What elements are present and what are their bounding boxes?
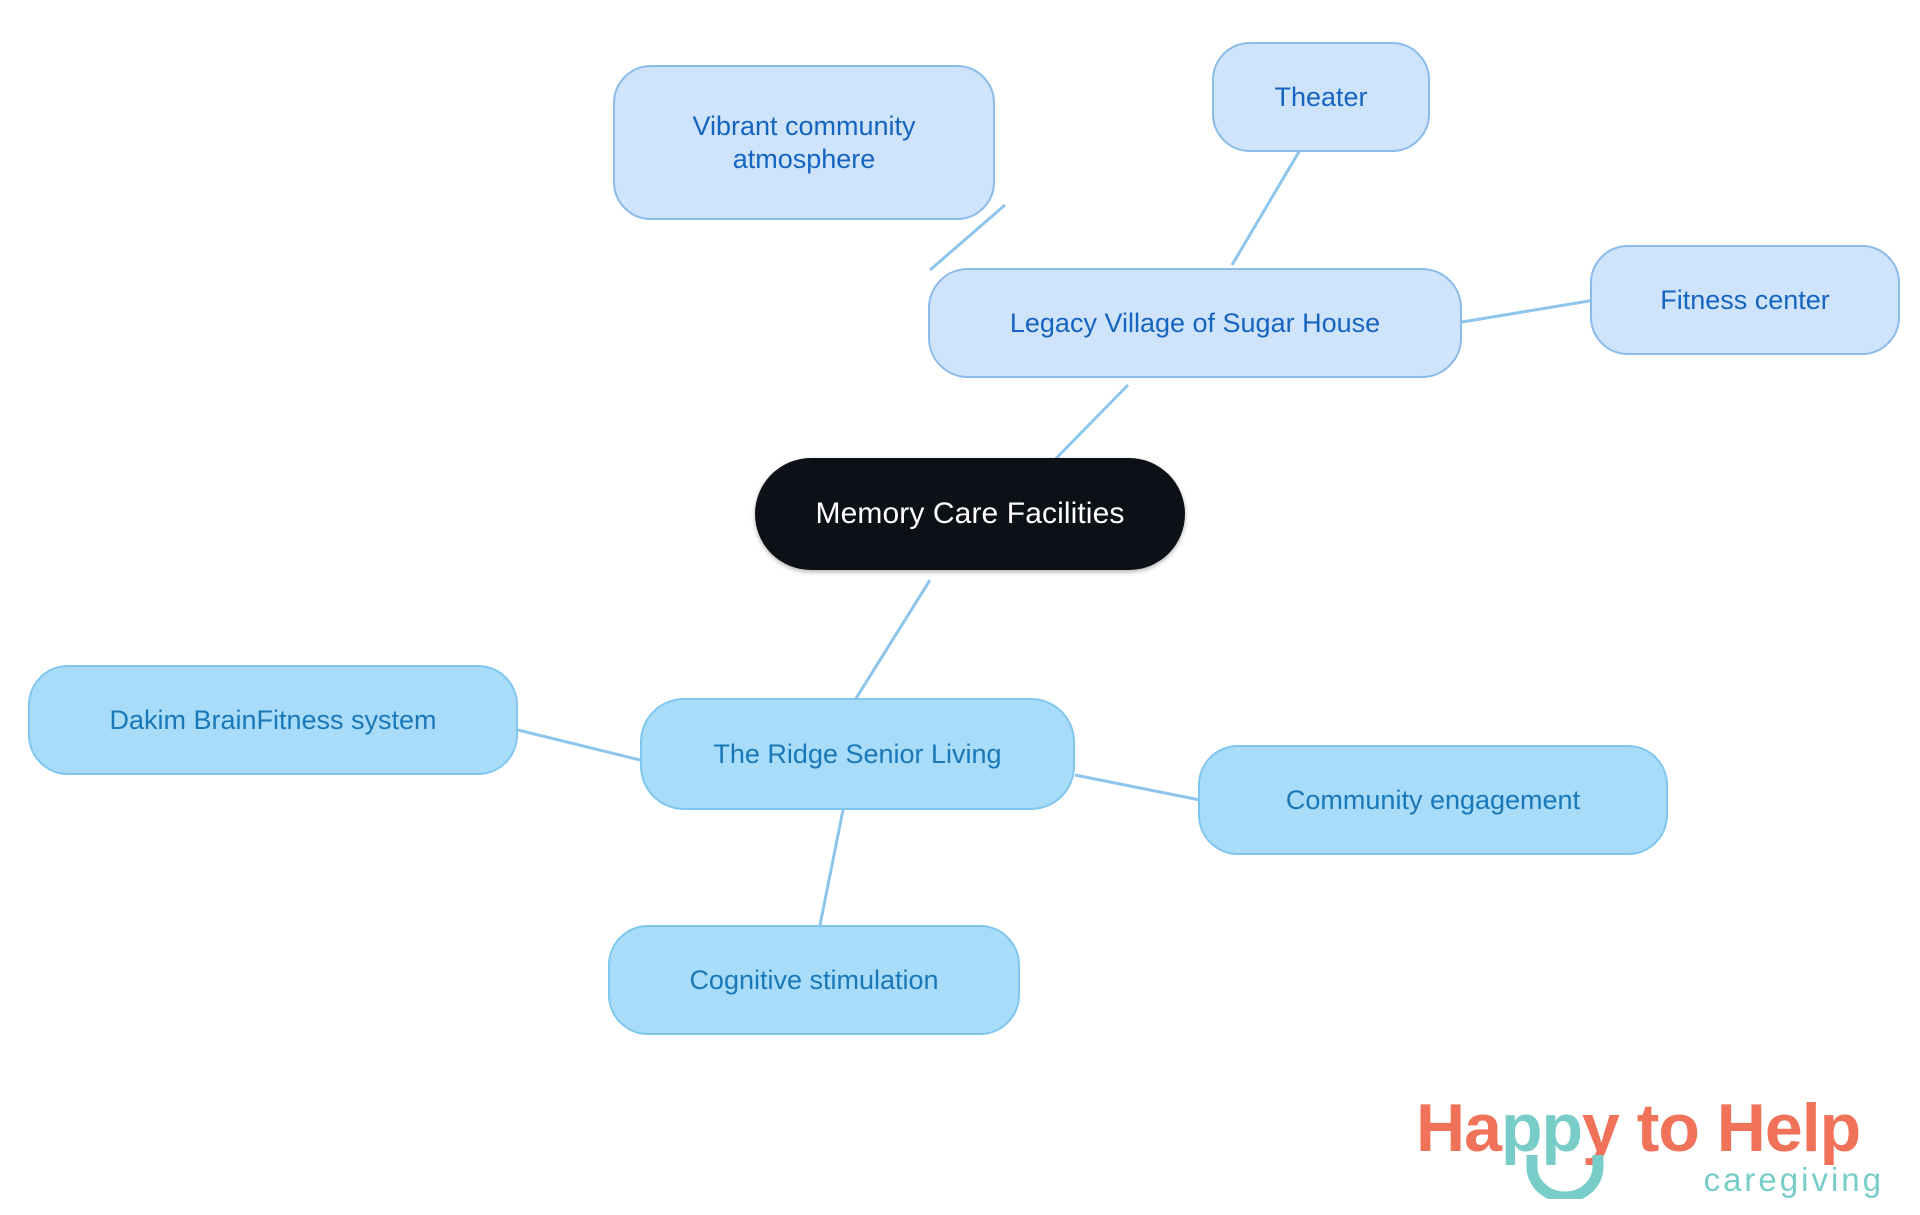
node-root-memory-care-facilities[interactable]: Memory Care Facilities bbox=[755, 458, 1185, 570]
logo-wordmark: Happy to Help bbox=[1416, 1089, 1860, 1167]
node-branch-the-ridge-senior-living[interactable]: The Ridge Senior Living bbox=[640, 698, 1075, 810]
edge-the-ridge-to-cognitive-stimulation bbox=[820, 800, 845, 925]
node-branch-legacy-village-of-sugar-house[interactable]: Legacy Village of Sugar House bbox=[928, 268, 1462, 378]
edge-legacy-village-to-fitness-center bbox=[1462, 300, 1595, 322]
node-leaf-vibrant-community-atmosphere[interactable]: Vibrant community atmosphere bbox=[613, 65, 995, 220]
logo-word-part-1: Ha bbox=[1416, 1090, 1501, 1166]
logo-word-part-2: y to Help bbox=[1582, 1090, 1860, 1166]
node-leaf-theater[interactable]: Theater bbox=[1212, 42, 1430, 152]
node-leaf-community-engagement[interactable]: Community engagement bbox=[1198, 745, 1668, 855]
node-leaf-cognitive-stimulation[interactable]: Cognitive stimulation bbox=[608, 925, 1020, 1035]
edge-root-to-the-ridge bbox=[855, 580, 930, 700]
happy-to-help-logo: Happy to Help caregiving bbox=[1416, 1089, 1886, 1201]
mindmap-canvas: Memory Care Facilities Legacy Village of… bbox=[0, 0, 1920, 1215]
node-leaf-dakim-brainfitness-system[interactable]: Dakim BrainFitness system bbox=[28, 665, 518, 775]
edge-legacy-village-to-theater bbox=[1232, 150, 1300, 265]
smile-icon bbox=[1526, 1153, 1604, 1199]
node-leaf-fitness-center[interactable]: Fitness center bbox=[1590, 245, 1900, 355]
logo-tagline: caregiving bbox=[1704, 1161, 1884, 1199]
edge-the-ridge-to-community-engagement bbox=[1075, 775, 1200, 800]
edge-the-ridge-to-dakim bbox=[518, 730, 640, 760]
